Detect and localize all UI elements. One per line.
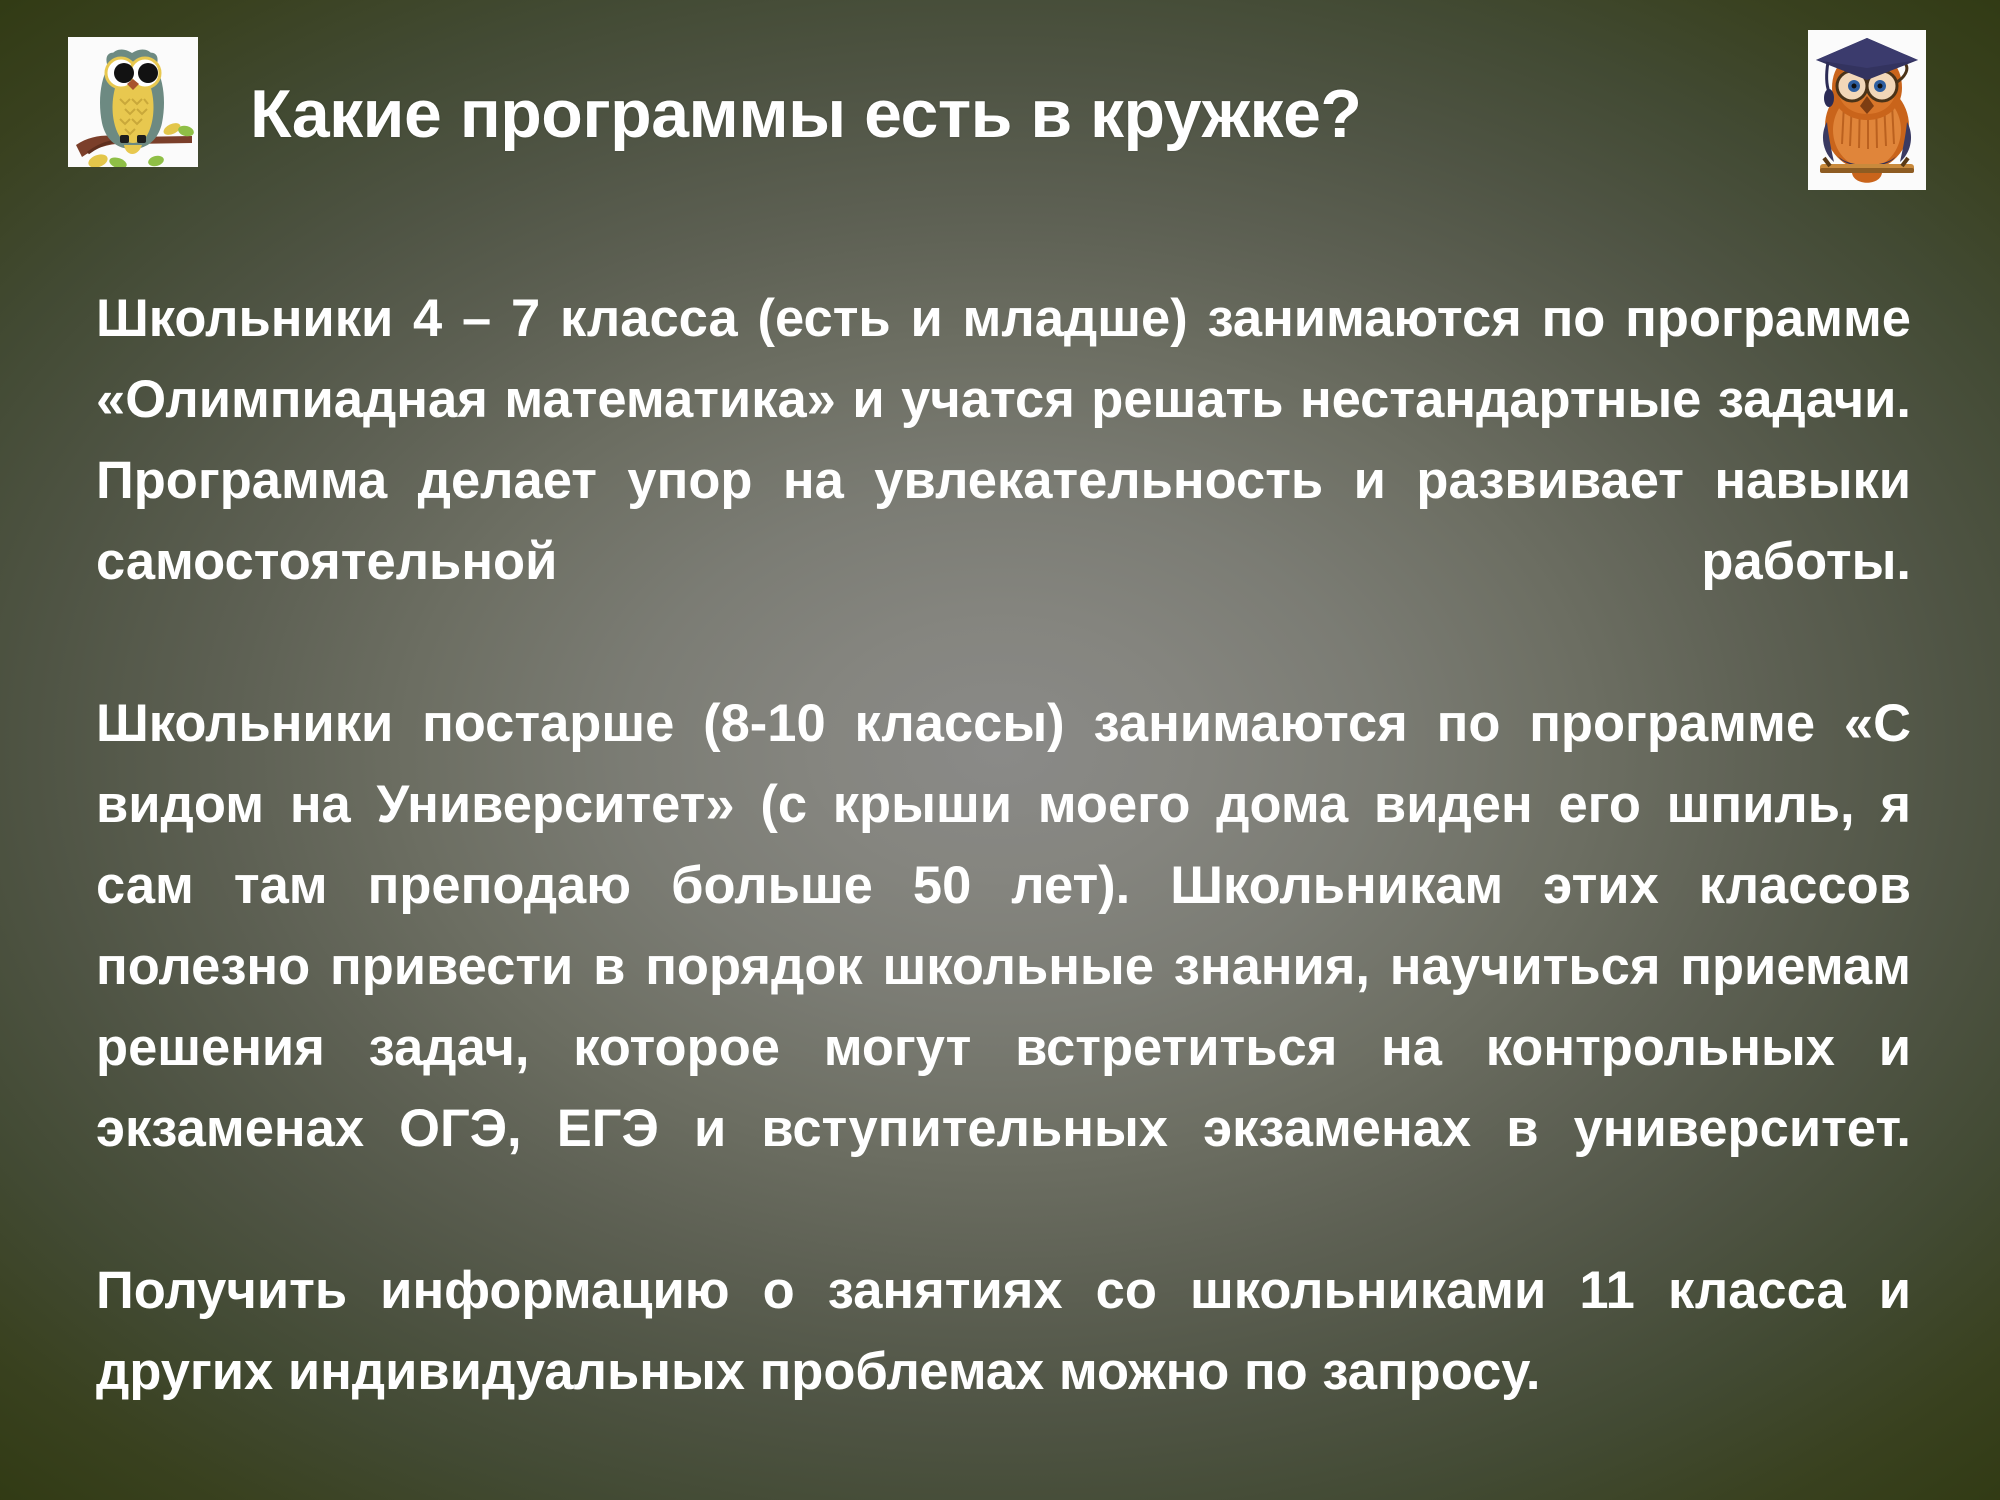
body-paragraph-3: Получить информацию о занятиях со школьн…	[96, 1250, 1911, 1412]
cartoon-owl-image	[68, 37, 198, 167]
body-paragraph-1: Школьники 4 – 7 класса (есть и младше) з…	[96, 278, 1911, 683]
graduate-owl-image	[1808, 30, 1926, 190]
slide-title-bar: Какие программы есть в кружке?	[250, 70, 1750, 160]
cartoon-owl-svg	[68, 37, 198, 167]
graduate-owl-svg	[1808, 30, 1926, 190]
page-title: Какие программы есть в кружке?	[250, 79, 1361, 150]
slide-body: Школьники 4 – 7 класса (есть и младше) з…	[96, 278, 1911, 1412]
body-paragraph-2: Школьники постарше (8-10 классы) занимаю…	[96, 683, 1911, 1250]
slide: Какие программы есть в кружке? Школьники…	[0, 0, 2000, 1500]
